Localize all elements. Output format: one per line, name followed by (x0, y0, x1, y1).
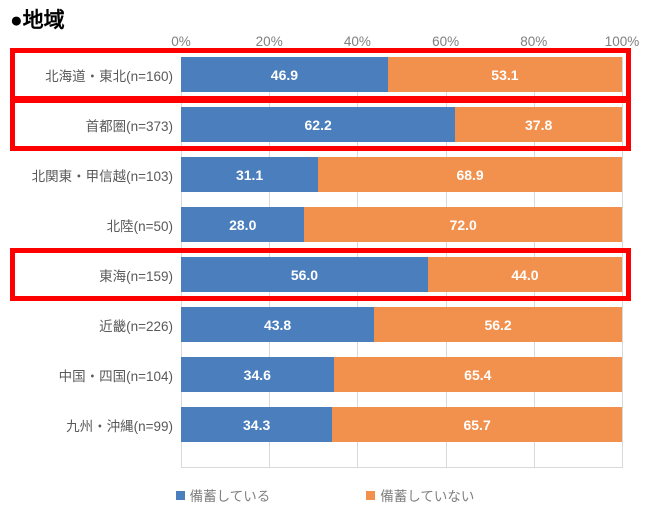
x-axis-line (181, 467, 623, 468)
x-axis-tick-0: 0% (171, 34, 191, 49)
category-label: 東海(n=159) (5, 257, 181, 292)
gridline-100 (622, 57, 623, 468)
category-label: 九州・沖縄(n=99) (5, 407, 181, 442)
bar-row: 28.072.0 (181, 207, 622, 242)
square-swatch-blue-icon (176, 491, 185, 500)
bar-segment-stocking: 34.6 (181, 357, 334, 392)
bar-segment-not-stocking: 65.4 (334, 357, 622, 392)
x-axis-tick-40: 40% (344, 34, 371, 49)
x-axis-tick-100: 100% (605, 34, 640, 49)
bar-row: 46.953.1 (181, 57, 622, 92)
category-label: 北関東・甲信越(n=103) (5, 157, 181, 192)
chart-legend: 備蓄している備蓄していない (0, 484, 650, 506)
bar-segment-not-stocking: 37.8 (455, 107, 622, 142)
bar-row: 62.237.8 (181, 107, 622, 142)
bar-row: 56.044.0 (181, 257, 622, 292)
bar-row: 31.168.9 (181, 157, 622, 192)
x-axis-tick-20: 20% (256, 34, 283, 49)
bar-segment-stocking: 31.1 (181, 157, 318, 192)
bar-segment-stocking: 28.0 (181, 207, 304, 242)
bar-segment-not-stocking: 44.0 (428, 257, 622, 292)
bar-segment-stocking: 46.9 (181, 57, 388, 92)
bar-segment-stocking: 34.3 (181, 407, 332, 442)
x-axis-tick-60: 60% (432, 34, 459, 49)
category-label: 近畿(n=226) (5, 307, 181, 342)
bar-segment-not-stocking: 72.0 (304, 207, 622, 242)
category-label: 北陸(n=50) (5, 207, 181, 242)
bar-segment-stocking: 56.0 (181, 257, 428, 292)
chart-title: ●地域 (10, 4, 65, 34)
bar-segment-not-stocking: 56.2 (374, 307, 622, 342)
bar-row: 34.365.7 (181, 407, 622, 442)
category-label: 首都圏(n=373) (5, 107, 181, 142)
bar-segment-not-stocking: 68.9 (318, 157, 622, 192)
x-axis-tick-80: 80% (520, 34, 547, 49)
chart-container: ●地域 0%20%40%60%80%100% 北海道・東北(n=160)首都圏(… (0, 0, 650, 515)
bar-segment-not-stocking: 65.7 (332, 407, 622, 442)
category-label-column: 北海道・東北(n=160)首都圏(n=373)北関東・甲信越(n=103)北陸(… (0, 57, 181, 468)
square-swatch-orange-icon (366, 491, 375, 500)
bar-row: 34.665.4 (181, 357, 622, 392)
bar-segment-not-stocking: 53.1 (388, 57, 622, 92)
legend-item[interactable]: 備蓄していない (366, 485, 474, 505)
x-axis-tick-labels: 0%20%40%60%80%100% (0, 34, 650, 54)
legend-label: 備蓄している (190, 485, 271, 505)
bar-segment-stocking: 43.8 (181, 307, 374, 342)
category-label: 北海道・東北(n=160) (5, 57, 181, 92)
bar-segment-stocking: 62.2 (181, 107, 455, 142)
legend-item[interactable]: 備蓄している (176, 485, 271, 505)
plot-area: 46.953.162.237.831.168.928.072.056.044.0… (181, 57, 622, 468)
bar-row: 43.856.2 (181, 307, 622, 342)
category-label: 中国・四国(n=104) (5, 357, 181, 392)
legend-label: 備蓄していない (380, 485, 474, 505)
